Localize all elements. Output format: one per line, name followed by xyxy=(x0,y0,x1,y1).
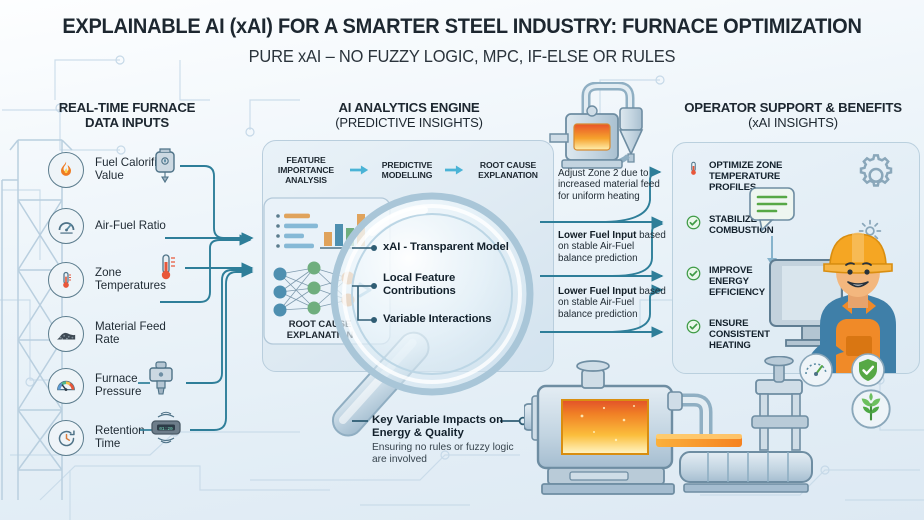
operator-at-computer-illustration xyxy=(762,168,924,373)
input-row-retention-time[interactable]: Retention Time xyxy=(48,420,171,456)
thermometer-icon xyxy=(48,262,84,298)
input-label: Zone Temperatures xyxy=(95,267,171,293)
magnifier-item-transparent-model: xAI - Transparent Model xyxy=(383,241,553,254)
check-circle-icon xyxy=(686,266,701,281)
magnifier-item-variable-interactions: Variable Interactions xyxy=(383,313,553,326)
input-row-fuel-calorific-value[interactable]: Fuel Calorific Value xyxy=(48,152,171,188)
callout-adjust-zone-2: Adjust Zone 2 due to increased material … xyxy=(558,168,670,202)
check-circle-icon xyxy=(686,319,701,334)
center-heading-sub: (PREDICTIVE INSIGHTS) xyxy=(280,115,538,130)
magnifier-item-local-feature-contributions: Local Feature Contributions xyxy=(383,272,495,298)
flow-step-feature-importance: FEATURE IMPORTANCE ANALYSIS xyxy=(269,155,343,185)
flow-arrow-icon xyxy=(445,164,465,176)
input-label: Air-Fuel Ratio xyxy=(95,220,171,233)
input-row-air-fuel-ratio[interactable]: Air-Fuel Ratio xyxy=(48,208,171,244)
flame-icon xyxy=(48,152,84,188)
center-column-heading: AI ANALYTICS ENGINE (PREDICTIVE INSIGHTS… xyxy=(280,100,538,130)
flow-arrow-icon xyxy=(350,164,370,176)
input-label: Fuel Calorific Value xyxy=(95,157,171,183)
input-row-material-feed-rate[interactable]: Material Feed Rate xyxy=(48,316,171,352)
check-circle-icon xyxy=(686,215,701,230)
center-heading-line1: AI ANALYTICS ENGINE xyxy=(338,100,479,115)
input-row-furnace-pressure[interactable]: Furnace Pressure xyxy=(48,368,171,404)
input-label: Retention Time xyxy=(95,425,171,451)
gauge-icon xyxy=(48,208,84,244)
infographic-root: EXPLAINABLE AI (xAI) FOR A SMARTER STEEL… xyxy=(0,0,924,520)
key-impact-title: Key Variable Impacts on Energy & Quality xyxy=(372,414,522,440)
flow-step-predictive-modelling: PREDICTIVE MODELLING xyxy=(376,160,438,180)
left-heading-line1: REAL-TIME FURNACE xyxy=(59,100,196,115)
page-subtitle: PURE xAI – NO FUZZY LOGIC, MPC, IF-ELSE … xyxy=(28,46,897,67)
callout-lower-fuel-input-2: Lower Fuel Input based on stable Air-Fue… xyxy=(558,286,670,320)
input-row-zone-temperatures[interactable]: Zone Temperatures xyxy=(48,262,171,298)
callout-lower-fuel-input-1: Lower Fuel Input based on stable Air-Fue… xyxy=(558,230,670,264)
input-label: Material Feed Rate xyxy=(95,321,171,347)
clock-arrow-icon xyxy=(48,420,84,456)
leaf-plant-icon xyxy=(850,388,892,430)
callout-bold: Lower Fuel Input xyxy=(558,286,636,297)
pressure-dial-icon xyxy=(48,368,84,404)
key-variable-impacts-callout: Key Variable Impacts on Energy & Quality… xyxy=(372,414,522,466)
page-title: EXPLAINABLE AI (xAI) FOR A SMARTER STEEL… xyxy=(32,14,891,39)
shield-check-icon xyxy=(850,352,886,388)
furnace-conveyor-illustration xyxy=(524,356,824,516)
ore-pile-icon xyxy=(48,316,84,352)
right-heading-line1: OPERATOR SUPPORT & BENEFITS xyxy=(684,100,902,115)
input-label: Furnace Pressure xyxy=(95,373,171,399)
callout-text: Adjust Zone 2 due to increased material … xyxy=(558,168,660,202)
flow-step-root-cause: ROOT CAUSE EXPLANATION xyxy=(471,160,545,180)
thermometer-icon xyxy=(686,161,701,176)
left-column-heading: REAL-TIME FURNACE DATA INPUTS xyxy=(36,100,218,130)
key-impact-subtitle: Ensuring no rules or fuzzy logic are inv… xyxy=(372,442,522,466)
right-column-heading: OPERATOR SUPPORT & BENEFITS (xAI INSIGHT… xyxy=(664,100,922,130)
callout-bold: Lower Fuel Input xyxy=(558,230,636,241)
left-heading-line2: DATA INPUTS xyxy=(85,115,169,130)
furnace-with-chimney-illustration xyxy=(548,82,670,174)
right-heading-sub: (xAI INSIGHTS) xyxy=(664,115,922,130)
